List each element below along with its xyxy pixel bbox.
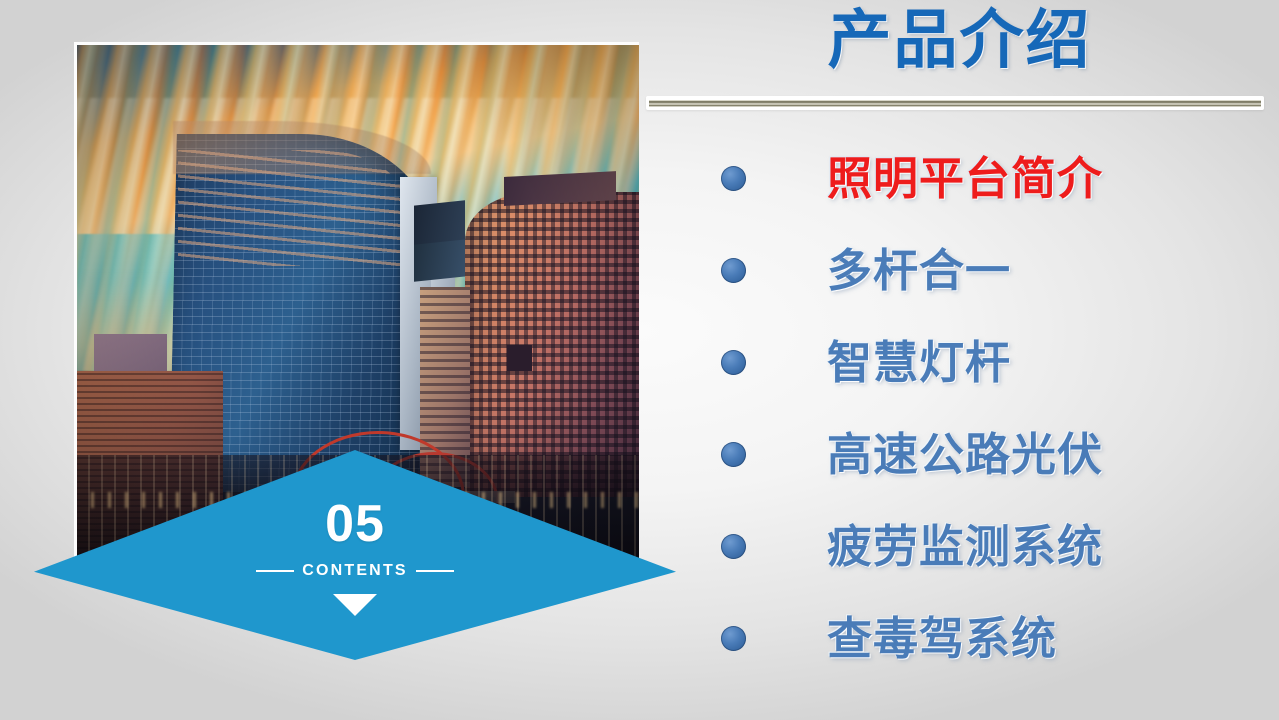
list-item[interactable]: 疲劳监测系统 [640,500,1279,592]
bullet-dot-icon [721,350,746,375]
list-item-label: 查毒驾系统 [827,616,1057,661]
list-item-label: 疲劳监测系统 [827,524,1103,569]
list-item[interactable]: 智慧灯杆 [640,316,1279,408]
bullet-dot-icon [721,442,746,467]
dark-fin-2 [414,239,467,281]
list-item-label: 照明平台简介 [827,156,1103,201]
presentation-slide: 05 CONTENTS 产品介绍 照明平台简介 多杆合一 智慧灯杆 [0,0,1279,720]
bullet-dot-icon [721,258,746,283]
bullet-list: 照明平台简介 多杆合一 智慧灯杆 高速公路光伏 疲劳监测系统 查毒驾系统 [640,132,1279,684]
bullet-dot-icon [721,626,746,651]
list-item[interactable]: 查毒驾系统 [640,592,1279,684]
glass-tower-bands [178,150,414,266]
list-item-label: 高速公路光伏 [827,432,1103,477]
page-title: 产品介绍 [640,4,1279,78]
content-panel: 产品介绍 照明平台简介 多杆合一 智慧灯杆 高速公路光伏 [640,0,1279,720]
warm-tower-building [465,192,639,497]
title-divider [646,96,1264,110]
list-item[interactable]: 高速公路光伏 [640,408,1279,500]
bullet-dot-icon [721,534,746,559]
list-item-label: 多杆合一 [827,248,1011,293]
warm-tower-notch [507,345,532,371]
title-divider-inner [649,100,1261,107]
list-item[interactable]: 照明平台简介 [640,132,1279,224]
bullet-dot-icon [721,166,746,191]
list-item-label: 智慧灯杆 [827,340,1011,385]
warm-tower-roof [504,171,616,206]
list-item[interactable]: 多杆合一 [640,224,1279,316]
